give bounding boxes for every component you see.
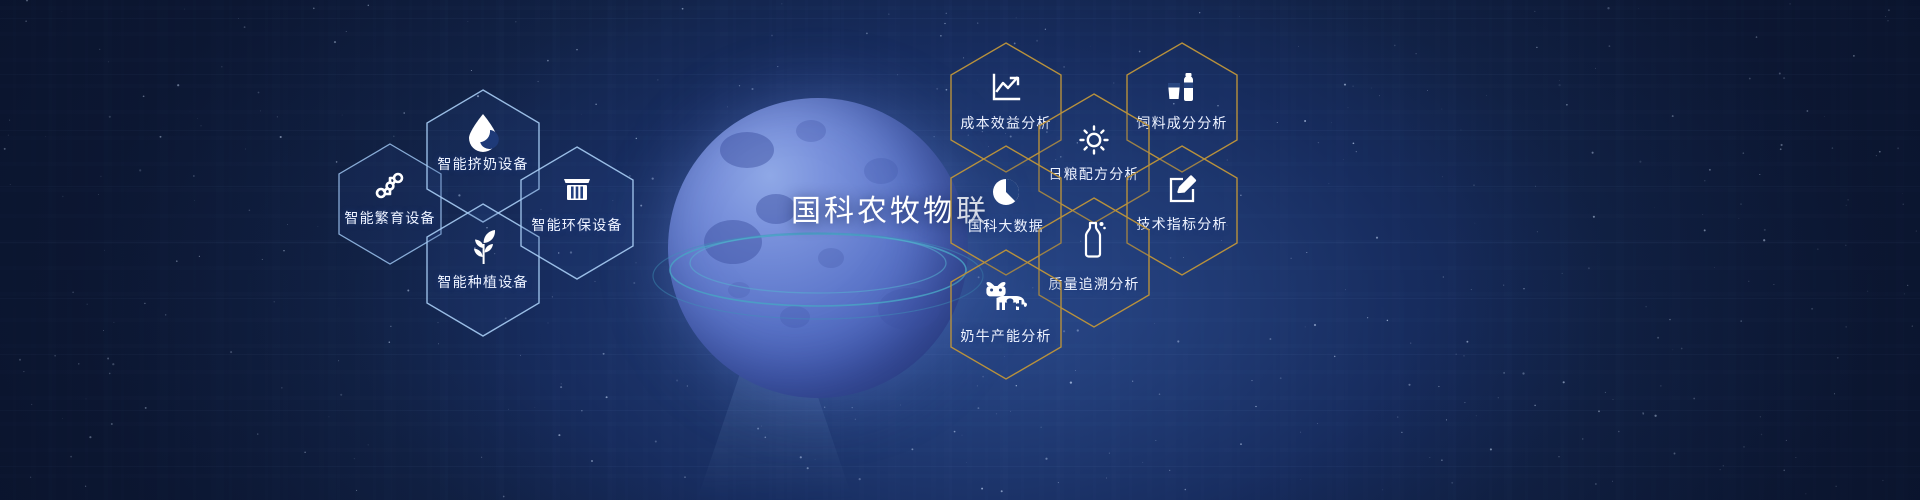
hex-label: 奶牛产能分析 <box>948 326 1064 346</box>
hex-left-environment[interactable]: 智能环保设备 <box>518 145 636 281</box>
hex-right-cow-capacity[interactable]: 奶牛产能分析 <box>948 248 1064 382</box>
hex-label: 智能环保设备 <box>518 215 636 235</box>
hero-banner: 国科农牧物联 智能繁育设备 智能挤奶设备 <box>0 0 1920 500</box>
trash-bin-icon <box>518 173 636 205</box>
cow-icon <box>948 280 1064 312</box>
